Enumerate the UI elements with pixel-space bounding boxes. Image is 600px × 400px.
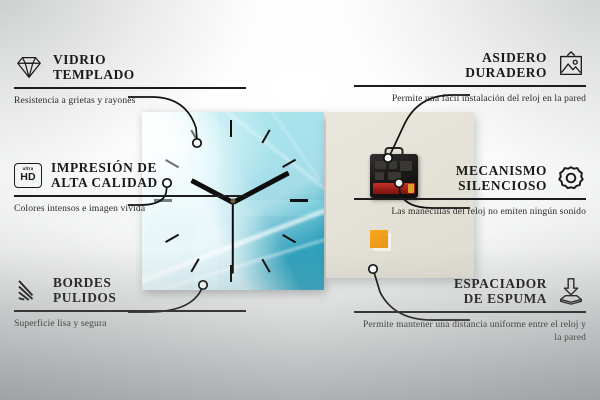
picture-frame-hanger-icon [556,50,586,80]
feature-header: ASIDERO DURADERO [354,50,586,80]
feature-block-hook: ASIDERO DURADERO Permite una fácil insta… [354,50,586,105]
feature-title-line: ASIDERO [465,50,547,65]
feature-title: VIDRIO TEMPLADO [53,52,135,82]
feature-title-line: BORDES [53,275,116,290]
feature-description: Permite mantener una distancia uniforme … [354,318,586,344]
feature-title-line: SILENCIOSO [456,178,547,193]
feature-title-line: DE ESPUMA [454,291,547,306]
feature-title-line: MECANISMO [456,163,547,178]
feature-title: ESPACIADOR DE ESPUMA [454,276,547,306]
feature-header: ESPACIADOR DE ESPUMA [354,276,586,306]
feature-header: VIDRIO TEMPLADO [14,52,246,82]
feature-header: MECANISMO SILENCIOSO [354,163,586,193]
feature-block-edges: BORDES PULIDOS Superficie lisa y segura [14,275,246,330]
feature-title: MECANISMO SILENCIOSO [456,163,547,193]
foam-spacer-pad [370,230,388,248]
feature-description: Resistencia a grietas y rayones [14,94,246,107]
feature-block-silent: MECANISMO SILENCIOSO Las manecillas del … [354,163,586,218]
feature-title-line: PULIDOS [53,290,116,305]
feature-title-line: IMPRESIÓN DE [51,160,158,175]
feature-header: BORDES PULIDOS [14,275,246,305]
feature-header: ultra HD IMPRESIÓN DE ALTA CALIDAD [14,160,246,190]
feature-description: Superficie lisa y segura [14,317,246,330]
feature-title-line: VIDRIO [53,52,135,67]
feature-divider [14,195,246,197]
feature-description: Las manecillas del reloj no emiten ningú… [354,205,586,218]
polished-edges-icon [14,275,44,305]
feature-title: BORDES PULIDOS [53,275,116,305]
diamond-icon [14,52,44,82]
feature-divider [14,310,246,312]
clock-hand-hub [231,199,236,204]
feature-divider [354,85,586,87]
feature-block-glass: VIDRIO TEMPLADO Resistencia a grietas y … [14,52,246,107]
clock-tick [230,120,232,137]
feature-divider [14,87,246,89]
feature-description: Permite una fácil instalación del reloj … [354,92,586,105]
foam-spacer-arrow-icon [556,276,586,306]
ultra-hd-badge-icon: ultra HD [14,163,42,188]
feature-divider [354,198,586,200]
feature-title: IMPRESIÓN DE ALTA CALIDAD [51,160,158,190]
feature-block-foam: ESPACIADOR DE ESPUMA Permite mantener un… [354,276,586,344]
feature-description: Colores intensos e imagen vívida [14,202,246,215]
infographic-canvas: VIDRIO TEMPLADO Resistencia a grietas y … [0,0,600,400]
clock-tick [290,199,308,202]
feature-divider [354,311,586,313]
feature-title-line: TEMPLADO [53,67,135,82]
gear-icon [556,163,586,193]
feature-title-line: DURADERO [465,65,547,80]
feature-title: ASIDERO DURADERO [465,50,547,80]
feature-title-line: ALTA CALIDAD [51,175,158,190]
feature-title-line: ESPACIADOR [454,276,547,291]
badge-large-text: HD [20,172,36,183]
hanger-hook-icon [385,147,404,158]
feature-block-print: ultra HD IMPRESIÓN DE ALTA CALIDAD Color… [14,160,246,215]
